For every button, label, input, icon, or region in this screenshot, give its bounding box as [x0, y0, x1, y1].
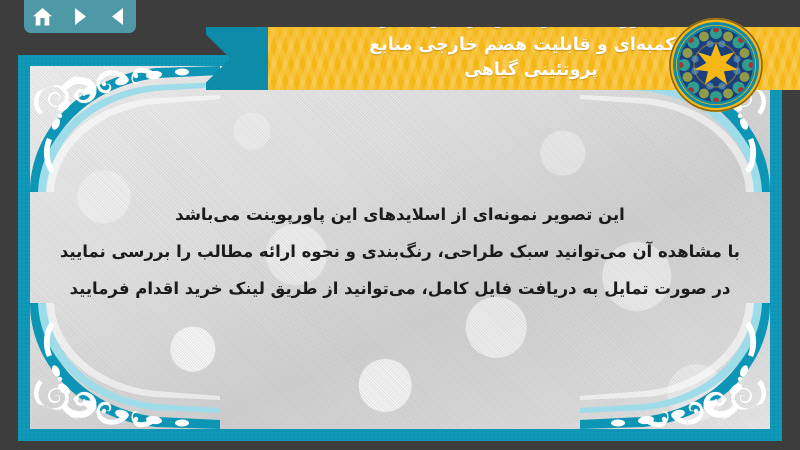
home-icon [32, 7, 53, 27]
slide-canvas: این تصویر نمونه‌ای از اسلایدهای این پاور… [30, 66, 770, 429]
slide-frame: این تصویر نمونه‌ای از اسلایدهای این پاور… [18, 55, 782, 441]
slide-body-text: این تصویر نمونه‌ای از اسلایدهای این پاور… [60, 196, 740, 307]
body-line-2: با مشاهده آن می‌توانید سبک طراحی، رنگ‌بن… [60, 233, 740, 270]
banner-highlight [268, 27, 800, 35]
home-button[interactable] [29, 4, 57, 30]
navigation-bar [24, 0, 136, 33]
presentation-slide-preview: این تصویر نمونه‌ای از اسلایدهای این پاور… [0, 0, 800, 450]
body-line-1: این تصویر نمونه‌ای از اسلایدهای این پاور… [60, 196, 740, 233]
banner-chevron-pattern [268, 27, 800, 90]
body-line-3: در صورت تمایل به دریافت فایل کامل، می‌تو… [60, 270, 740, 307]
back-button[interactable] [103, 4, 131, 30]
back-icon [109, 7, 126, 26]
forward-icon [72, 7, 89, 26]
slide-title-banner: کامل بررسی تأثیر تابش بر تجزیه‌پذیری شکم… [268, 27, 800, 90]
forward-button[interactable] [66, 4, 94, 30]
